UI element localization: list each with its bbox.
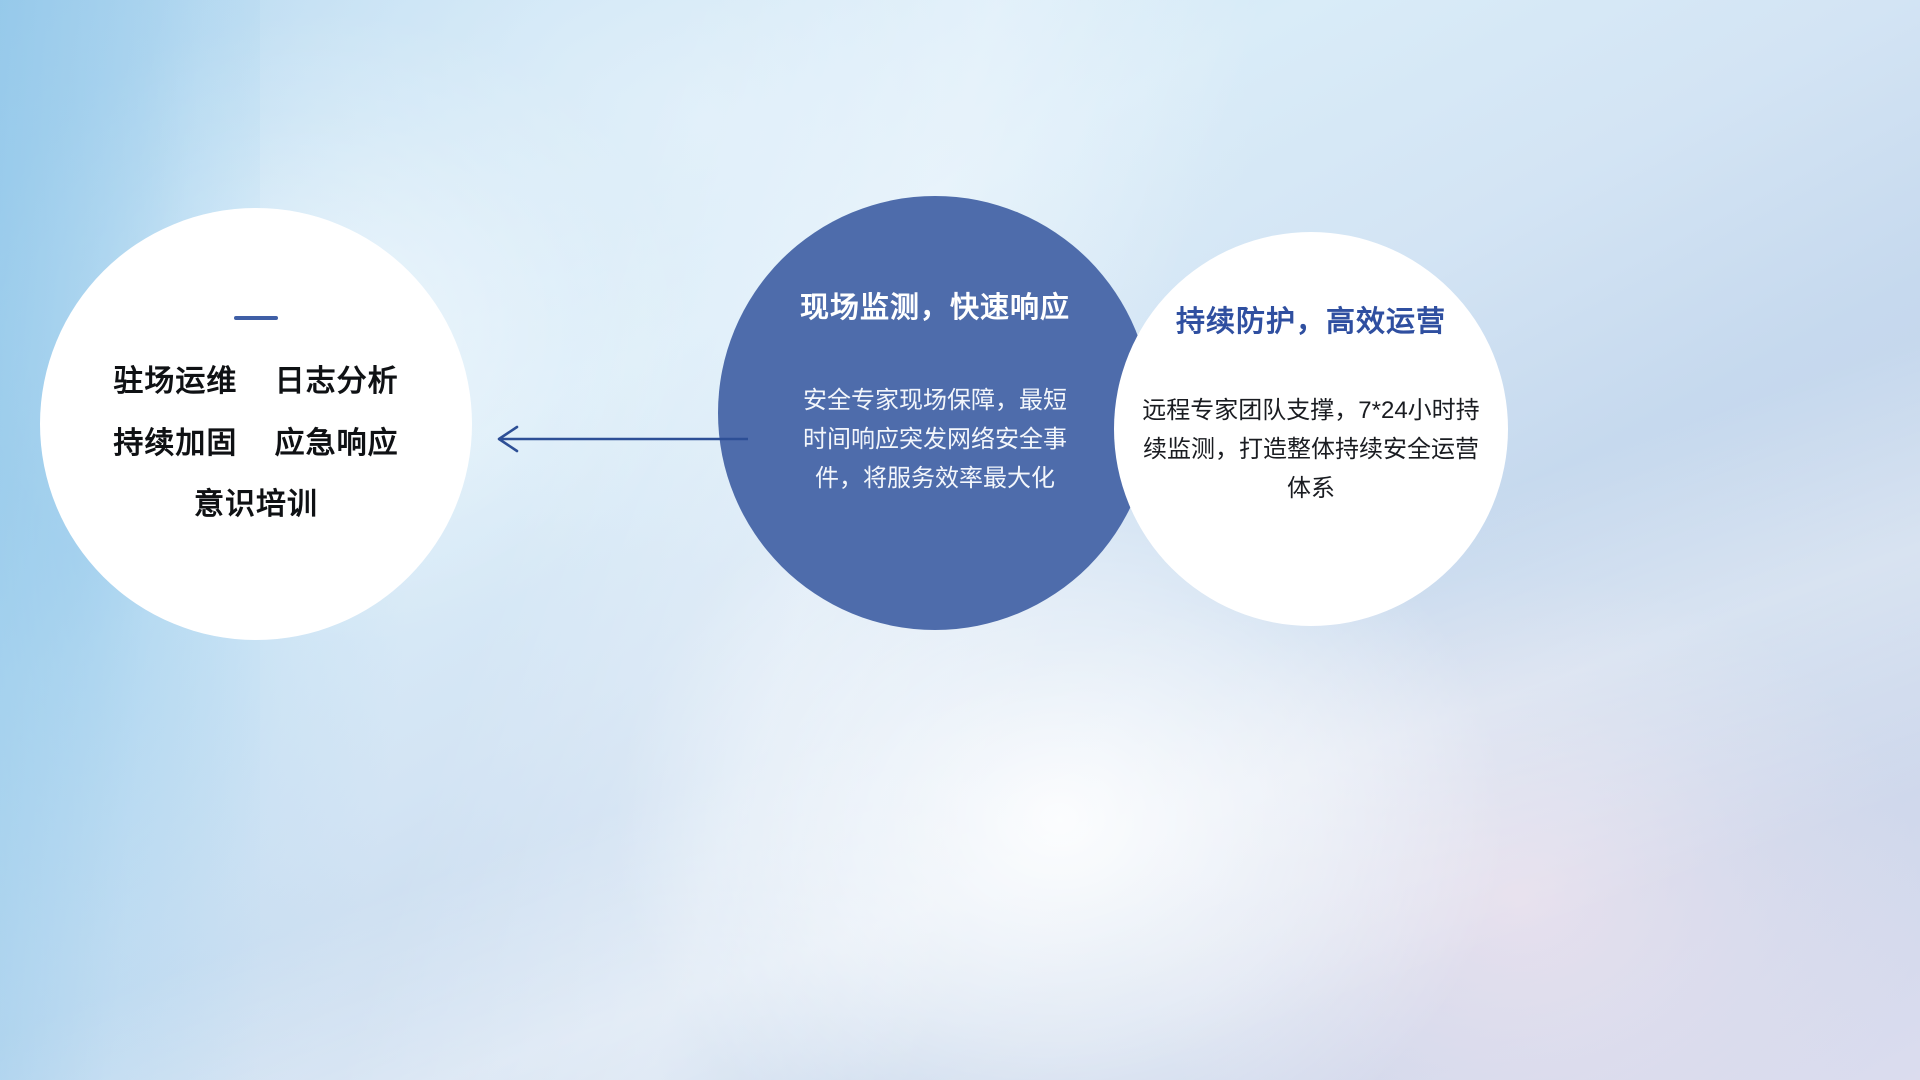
right-bubble-title: 持续防护，高效运营 [1122, 298, 1500, 340]
right-bubble-content: 持续防护，高效运营 远程专家团队支撑，7*24小时持续监测，打造整体持续安全运营… [1122, 298, 1500, 509]
slide-canvas: 现场监测，快速响应 安全专家现场保障，最短时间响应突发网络安全事件，将服务效率最… [0, 0, 1920, 1080]
left-bubble-content: 驻场运维 日志分析 持续加固 应急响应 意识培训 [40, 316, 472, 521]
center-bubble-body: 安全专家现场保障，最短时间响应突发网络安全事件，将服务效率最大化 [740, 382, 1130, 499]
divider-dash-icon [234, 316, 278, 320]
right-bubble-body: 远程专家团队支撑，7*24小时持续监测，打造整体持续安全运营体系 [1122, 392, 1500, 509]
bubble-right[interactable]: 持续防护，高效运营 远程专家团队支撑，7*24小时持续监测，打造整体持续安全运营… [1114, 232, 1508, 626]
left-bubble-line-3: 意识培训 [40, 489, 472, 521]
center-bubble-content: 现场监测，快速响应 安全专家现场保障，最短时间响应突发网络安全事件，将服务效率最… [740, 284, 1130, 499]
bubble-left[interactable]: 驻场运维 日志分析 持续加固 应急响应 意识培训 [40, 208, 472, 640]
arrow-left-icon [490, 414, 750, 464]
bubble-center[interactable]: 现场监测，快速响应 安全专家现场保障，最短时间响应突发网络安全事件，将服务效率最… [718, 196, 1152, 630]
left-bubble-line-1: 驻场运维 日志分析 [40, 366, 472, 398]
left-bubble-line-2: 持续加固 应急响应 [40, 428, 472, 460]
center-bubble-title: 现场监测，快速响应 [740, 284, 1130, 326]
